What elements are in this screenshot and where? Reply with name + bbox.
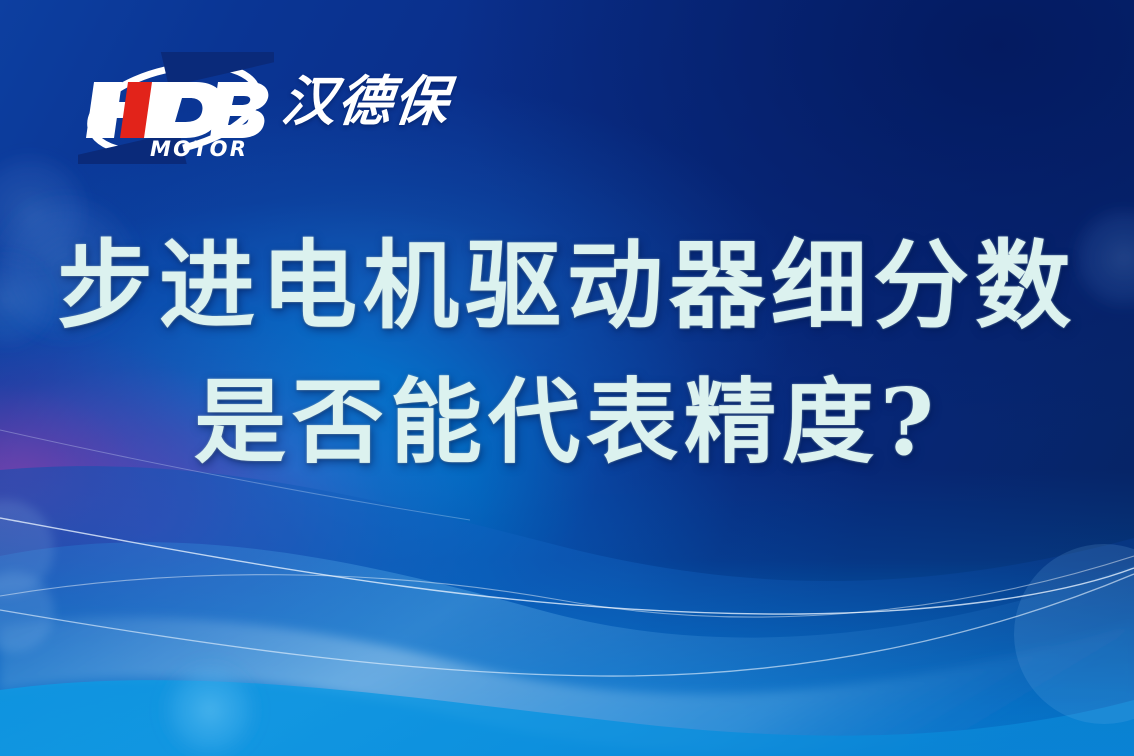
filament-line-upper: [0, 518, 1134, 614]
logo-letter-b: [210, 82, 268, 138]
hdb-logo-svg: MOTOR: [78, 52, 274, 164]
wave-ribbon-mid: [0, 542, 1134, 756]
logo-tagline: MOTOR: [150, 137, 248, 161]
wave-ribbon-dark: [0, 466, 1134, 756]
bokeh-circle-bottom-cyan: [156, 656, 264, 756]
bokeh-circle-bottom-right: [1014, 544, 1134, 724]
headline-block: 步进电机驱动器细分数 是否能代表精度?: [0, 238, 1134, 468]
wave-ribbon-light: [0, 617, 1134, 754]
headline-line-2: 是否能代表精度?: [0, 376, 1134, 468]
brand-name-cn: 汉德保: [279, 75, 453, 129]
filament-line-arc: [0, 556, 1134, 617]
poster-canvas: MOTOR 汉德保 步进电机驱动器细分数 是否能代表精度?: [0, 0, 1134, 756]
filament-line-lower: [0, 574, 1134, 676]
headline-line-1: 步进电机驱动器细分数: [0, 238, 1134, 334]
wave-ribbon-cyan-bottom: [0, 680, 1134, 756]
brand-logo[interactable]: MOTOR 汉德保: [78, 52, 458, 164]
hdb-logo-mark: MOTOR: [78, 52, 274, 164]
bokeh-circle-group-left-purple: [0, 500, 54, 652]
